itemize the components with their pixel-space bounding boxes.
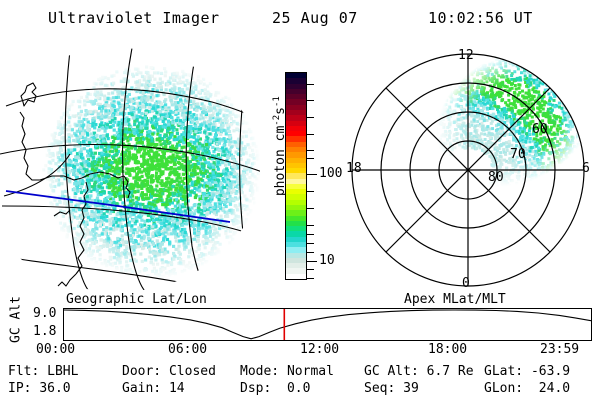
header-bar: Ultraviolet Imager 25 Aug 07 10:02:56 UT xyxy=(0,4,600,34)
time-tick-3: 18:00 xyxy=(428,342,467,357)
colorbar-major-tick xyxy=(307,261,317,262)
apex-polar-panel[interactable]: 12 18 6 0 60 70 80 xyxy=(340,46,600,294)
status-ip-label: IP: xyxy=(8,381,31,396)
alt-axis-label: GC Alt xyxy=(9,290,24,350)
status-gcalt-label: GC Alt: xyxy=(364,364,419,379)
colorbar-major-tick xyxy=(307,174,317,175)
observation-time: 10:02:56 UT xyxy=(428,9,533,27)
status-bar: Flt: LBHL IP: 36.0 Door: Closed Gain: 14… xyxy=(0,364,600,400)
time-tick-1: 06:00 xyxy=(168,342,207,357)
status-door-value: Closed xyxy=(169,364,216,379)
status-seq-label: Seq: xyxy=(364,381,395,396)
colorbar-segment xyxy=(286,274,306,279)
status-dsp-label: Dsp: xyxy=(240,381,271,396)
colorbar-minor-tick xyxy=(307,269,314,270)
status-dsp: Dsp: 0.0 xyxy=(240,381,310,396)
orbit-altitude-section: Geographic Lat/Lon Apex MLat/MLT GC Alt … xyxy=(0,292,600,354)
colorbar-tick-label: 10 xyxy=(319,254,335,267)
colorbar-minor-tick xyxy=(307,84,314,85)
colorbar-minor-tick xyxy=(307,252,314,253)
colorbar-panel: photon cm-2s-1 10010 xyxy=(262,46,340,294)
colorbar-minor-tick xyxy=(307,208,314,209)
colorbar-minor-tick xyxy=(307,243,314,244)
instrument-title: Ultraviolet Imager xyxy=(48,9,220,27)
mlat-label-80: 80 xyxy=(488,170,504,185)
time-tick-4: 23:59 xyxy=(540,342,579,357)
colorbar-minor-tick xyxy=(307,191,314,192)
polar-plot xyxy=(340,46,600,294)
status-door-label: Door: xyxy=(122,364,161,379)
colorbar-minor-tick xyxy=(307,117,314,118)
status-door: Door: Closed xyxy=(122,364,216,379)
status-ip: IP: 36.0 xyxy=(8,381,71,396)
status-seq: Seq: 39 xyxy=(364,381,419,396)
colorbar-minor-tick xyxy=(307,225,314,226)
colorbar-minor-tick xyxy=(307,134,314,135)
status-glat-value: -63.9 xyxy=(531,364,570,379)
status-dsp-value: 0.0 xyxy=(287,381,310,396)
colorbar-minor-tick xyxy=(307,278,314,279)
colorbar-minor-tick xyxy=(307,150,314,151)
colorbar-gradient[interactable] xyxy=(285,72,307,280)
colorbar-minor-tick xyxy=(307,100,314,101)
polar-grid xyxy=(352,54,584,286)
time-axis: 00:00 06:00 12:00 18:00 23:59 xyxy=(0,342,600,360)
time-tick-2: 12:00 xyxy=(300,342,339,357)
geographic-panel-caption: Geographic Lat/Lon xyxy=(66,292,207,307)
status-glon-value: 24.0 xyxy=(539,381,570,396)
status-filter-value: LBHL xyxy=(47,364,78,379)
polar-panel-caption: Apex MLat/MLT xyxy=(404,292,506,307)
status-gain: Gain: 14 xyxy=(122,381,185,396)
status-ip-value: 36.0 xyxy=(39,381,70,396)
status-gcalt-value: 6.7 Re xyxy=(427,364,474,379)
alt-tick-high: 9.0 xyxy=(33,306,56,321)
mlat-label-60: 60 xyxy=(532,122,548,137)
mlat-label-70: 70 xyxy=(510,147,526,162)
mlt-label-18: 18 xyxy=(346,161,362,176)
status-filter-label: Flt: xyxy=(8,364,39,379)
aurora-emission-field xyxy=(38,60,262,280)
time-tick-0: 00:00 xyxy=(36,342,75,357)
status-glat: GLat: -63.9 xyxy=(484,364,570,379)
status-mode: Mode: Normal xyxy=(240,364,334,379)
status-glon-label: GLon: xyxy=(484,381,523,396)
status-gain-value: 14 xyxy=(169,381,185,396)
mlt-label-6: 6 xyxy=(582,161,590,176)
colorbar-minor-tick xyxy=(307,234,314,235)
status-gcalt: GC Alt: 6.7 Re xyxy=(364,364,474,379)
altitude-trace-plot[interactable] xyxy=(63,308,592,341)
colorbar-tick-label: 100 xyxy=(319,167,342,180)
uvi-display-window: Ultraviolet Imager 25 Aug 07 10:02:56 UT xyxy=(0,0,600,400)
status-seq-value: 39 xyxy=(403,381,419,396)
observation-date: 25 Aug 07 xyxy=(272,9,358,27)
status-glon: GLon: 24.0 xyxy=(484,381,570,396)
mlt-label-0: 0 xyxy=(462,276,470,291)
mlt-label-12: 12 xyxy=(458,48,474,63)
status-glat-label: GLat: xyxy=(484,364,523,379)
status-filter: Flt: LBHL xyxy=(8,364,78,379)
status-mode-label: Mode: xyxy=(240,364,279,379)
colorbar-label-exp1: -2 xyxy=(272,115,282,126)
geographic-plot xyxy=(0,46,262,294)
status-gain-label: Gain: xyxy=(122,381,161,396)
colorbar-minor-tick xyxy=(307,158,314,159)
geographic-image-panel[interactable] xyxy=(0,46,262,294)
colorbar-label-exp2: -1 xyxy=(272,96,282,107)
alt-tick-low: 1.8 xyxy=(33,324,56,339)
altitude-curve xyxy=(64,309,591,340)
status-mode-value: Normal xyxy=(287,364,334,379)
